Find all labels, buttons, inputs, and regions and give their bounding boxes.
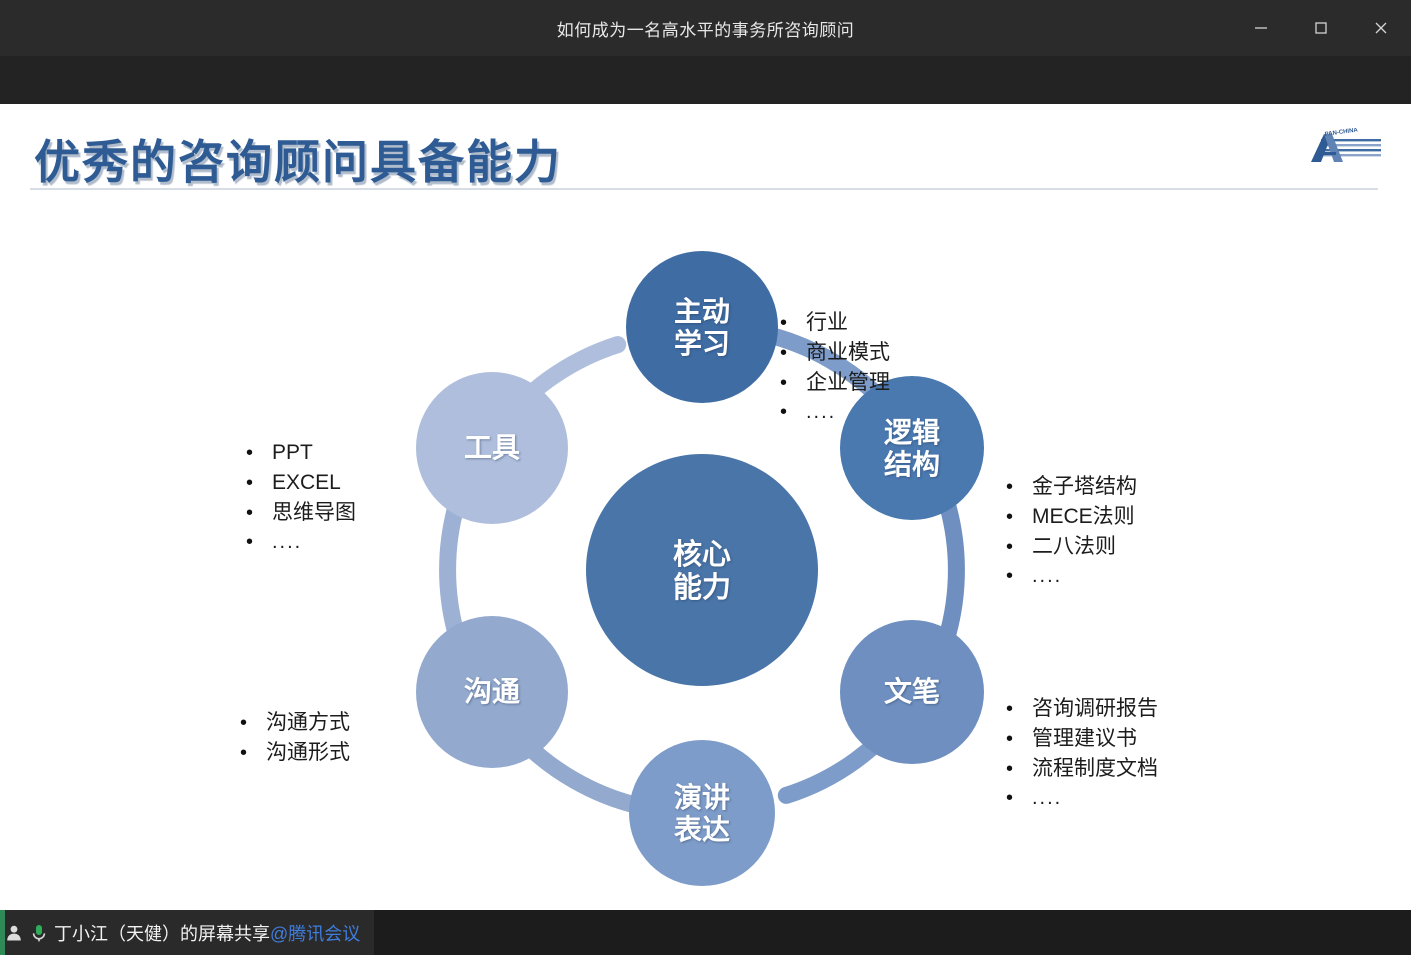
bullet-dot-icon: • <box>780 343 806 363</box>
bullet-dot-icon: • <box>780 313 806 333</box>
list-item: •金子塔结构 <box>1006 474 1137 501</box>
bullet-dot-icon: • <box>1006 537 1032 557</box>
list-item: •思维导图 <box>246 500 356 527</box>
bullet-dot-icon: • <box>1006 729 1032 749</box>
bullet-dot-icon: • <box>240 743 266 763</box>
share-status: 丁小江（天健）的屏幕共享@腾讯会议 <box>0 910 374 955</box>
list-item: •咨询调研报告 <box>1006 696 1158 723</box>
list-item: •.... <box>780 400 890 426</box>
bullet-dot-icon: • <box>780 373 806 393</box>
bullet-dot-icon: • <box>246 443 272 463</box>
list-item: •企业管理 <box>780 370 890 397</box>
core-competency-wheel: 主动 学习 逻辑 结构 文笔 演讲 表达 沟通 工具 核心 能力 <box>352 220 1052 910</box>
bullet-dot-icon: • <box>780 402 806 422</box>
window-title: 如何成为一名高水平的事务所咨询顾问 <box>557 16 855 41</box>
bullet-dot-icon: • <box>246 532 272 552</box>
node-circle-tools <box>416 372 568 524</box>
center-node-circle <box>586 454 818 686</box>
toolbar-strip <box>0 56 1411 104</box>
microphone-icon[interactable] <box>30 923 48 943</box>
bullet-dot-icon: • <box>1006 566 1032 586</box>
svg-text:PAN-CHINA: PAN-CHINA <box>1324 128 1358 138</box>
node-circle-comm <box>416 616 568 768</box>
list-item: •行业 <box>780 310 890 337</box>
bullet-dot-icon: • <box>1006 699 1032 719</box>
bullet-dot-icon: • <box>1006 507 1032 527</box>
node-circle-learn <box>626 251 778 403</box>
share-label: 丁小江（天健）的屏幕共享@腾讯会议 <box>54 920 360 946</box>
page-title: 优秀的咨询顾问具备能力 <box>34 126 562 192</box>
list-item: •.... <box>1006 564 1137 590</box>
list-item: •PPT <box>246 440 356 467</box>
list-item: •流程制度文档 <box>1006 756 1158 783</box>
pan-china-logo-icon: PAN-CHINA <box>1291 128 1383 168</box>
node-circle-write <box>840 620 984 764</box>
brand-label: @腾讯会议 <box>270 924 360 944</box>
presenter-name: 丁小江（天健）的屏幕共享 <box>54 924 270 944</box>
list-item: •MECE法则 <box>1006 504 1137 531</box>
list-item: •沟通形式 <box>240 740 350 767</box>
shared-slide: 优秀的咨询顾问具备能力 PAN-CHINA <box>0 104 1411 910</box>
bullet-dot-icon: • <box>1006 788 1032 808</box>
maximize-button[interactable] <box>1291 0 1351 56</box>
list-item: •商业模式 <box>780 340 890 367</box>
window-titlebar: 如何成为一名高水平的事务所咨询顾问 <box>0 0 1411 56</box>
bullet-group-learn: •行业 •商业模式 •企业管理 •.... <box>780 310 890 428</box>
title-divider <box>30 188 1378 190</box>
list-item: •EXCEL <box>246 470 356 497</box>
bullet-group-tools: •PPT •EXCEL •思维导图 •.... <box>246 440 356 558</box>
bullet-dot-icon: • <box>246 503 272 523</box>
bullet-group-logic: •金子塔结构 •MECE法则 •二八法则 •.... <box>1006 474 1137 592</box>
share-accent-bar <box>0 910 5 955</box>
bullet-group-comm: •沟通方式 •沟通形式 <box>240 710 350 770</box>
bullet-dot-icon: • <box>240 713 266 733</box>
list-item: •沟通方式 <box>240 710 350 737</box>
screen-share-bar: 丁小江（天健）的屏幕共享@腾讯会议 <box>0 910 1411 955</box>
list-item: •.... <box>246 530 356 556</box>
list-item: •.... <box>1006 786 1158 812</box>
bullet-dot-icon: • <box>246 473 272 493</box>
window-controls <box>1231 0 1411 56</box>
close-button[interactable] <box>1351 0 1411 56</box>
node-circle-speak <box>629 740 775 886</box>
bullet-dot-icon: • <box>1006 477 1032 497</box>
minimize-button[interactable] <box>1231 0 1291 56</box>
participant-icon[interactable] <box>4 923 24 943</box>
list-item: •二八法则 <box>1006 534 1137 561</box>
meeting-share-window: 如何成为一名高水平的事务所咨询顾问 优秀的咨询顾问具备能力 <box>0 0 1411 955</box>
list-item: •管理建议书 <box>1006 726 1158 753</box>
bullet-group-write: •咨询调研报告 •管理建议书 •流程制度文档 •.... <box>1006 696 1158 814</box>
bullet-dot-icon: • <box>1006 759 1032 779</box>
